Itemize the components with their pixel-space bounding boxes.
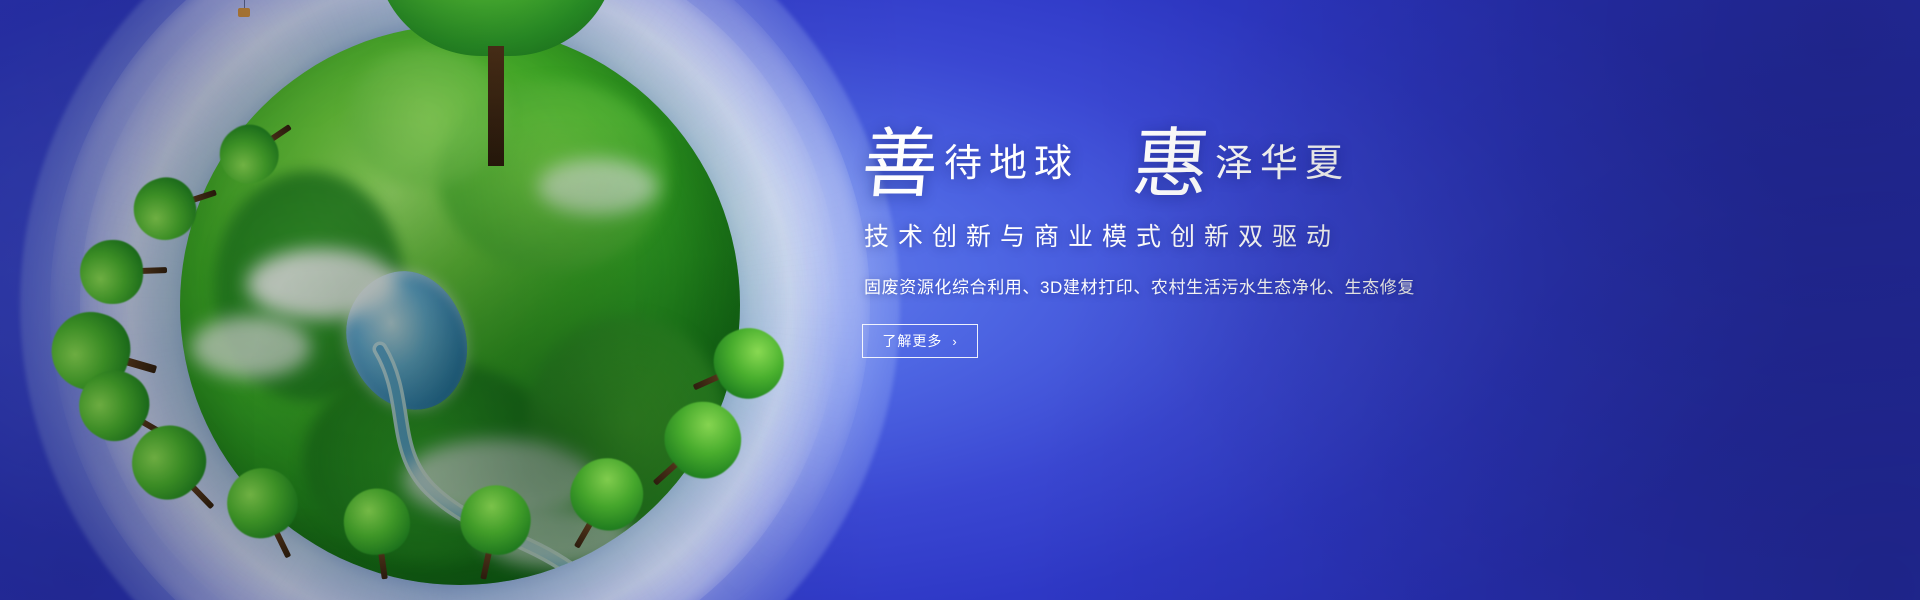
headline-rest-one: 待地球 — [944, 132, 1079, 199]
hero-banner: 善 待地球 惠 泽华夏 技术创新与商业模式创新双驱动 固废资源化综合利用、3D建… — [0, 0, 1920, 600]
page-title: 善 待地球 惠 泽华夏 — [862, 128, 1682, 199]
rim-tree — [79, 238, 169, 305]
banner-description: 固废资源化综合利用、3D建材打印、农村生活污水生态净化、生态修复 — [864, 273, 1682, 298]
hot-air-balloon-icon — [216, 0, 272, 24]
tiny-planet-artwork — [0, 0, 940, 600]
headline-char-shan: 善 — [859, 128, 941, 199]
banner-subtitle: 技术创新与商业模式创新双驱动 — [864, 217, 1682, 253]
banner-content: 善 待地球 惠 泽华夏 技术创新与商业模式创新双驱动 固废资源化综合利用、3D建… — [862, 128, 1682, 358]
birds-flock-icon — [572, 0, 712, 6]
learn-more-button[interactable]: 了解更多 › — [862, 324, 978, 358]
headline-char-hui: 惠 — [1130, 128, 1212, 199]
hero-tree — [376, 0, 616, 122]
rim-tree — [340, 484, 418, 584]
learn-more-label: 了解更多 — [882, 331, 942, 351]
chevron-right-icon: › — [952, 335, 957, 348]
headline-rest-two: 泽华夏 — [1215, 132, 1350, 199]
